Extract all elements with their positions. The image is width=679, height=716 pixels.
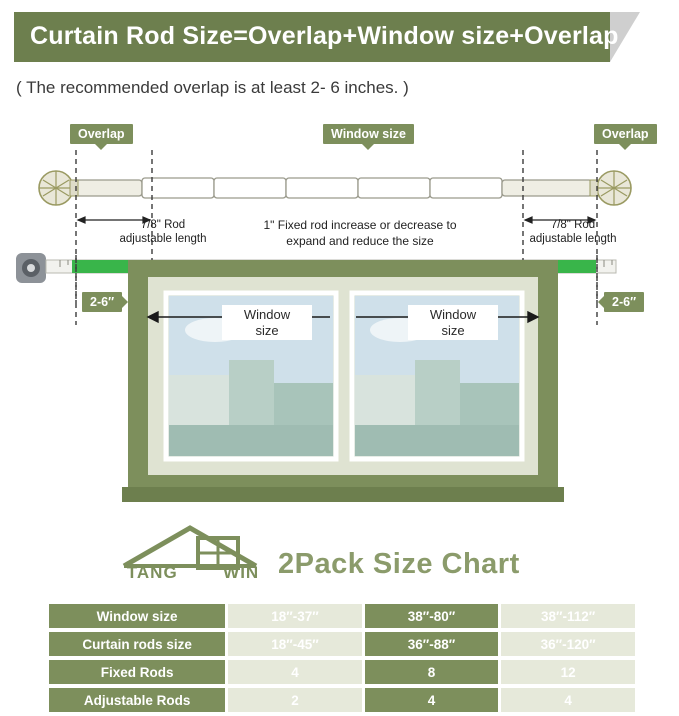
note-center-line2: expand and reduce the size: [286, 234, 433, 248]
row-label-curtain-rods-size: Curtain rods size: [49, 632, 225, 656]
window-size-label-right: Window size: [408, 305, 498, 340]
tag-overlap-left: Overlap: [70, 124, 133, 144]
note-right-adjustable: 7/8" Rod adjustable length: [508, 218, 638, 247]
note-right-line1: 7/8" Rod: [551, 219, 595, 231]
table-row: Curtain rods size 18″-45″ 36″-88″ 36″-12…: [49, 632, 635, 656]
note-center-fixed: 1" Fixed rod increase or decrease to exp…: [250, 218, 470, 249]
window-size-label-left: Window size: [222, 305, 312, 340]
size-chart-title: 2Pack Size Chart: [278, 548, 520, 581]
page-subtitle: ( The recommended overlap is at least 2-…: [16, 78, 409, 98]
brand-left: TANG: [127, 563, 178, 582]
tag-overlap-measure-right: 2-6″: [604, 292, 644, 312]
cell-window-size-3: 38″-112″: [501, 604, 635, 628]
row-label-window-size: Window size: [49, 604, 225, 628]
brand-wordmark: TANG WIN: [118, 563, 268, 583]
brand-right: WIN: [223, 563, 259, 582]
window-size-label-right-line2: size: [441, 323, 464, 338]
tag-window-size: Window size: [323, 124, 414, 144]
cell-window-size-2: 38″-80″: [365, 604, 499, 628]
table-row: Fixed Rods 4 8 12: [49, 660, 635, 684]
tag-overlap-measure-left: 2-6″: [82, 292, 122, 312]
cell-window-size-1: 18″-37″: [228, 604, 362, 628]
cell-curtain-rods-size-2: 36″-88″: [365, 632, 499, 656]
cell-adjustable-rods-1: 2: [228, 688, 362, 712]
row-label-fixed-rods: Fixed Rods: [49, 660, 225, 684]
cell-adjustable-rods-3: 4: [501, 688, 635, 712]
curtain-rod-icon: [39, 171, 631, 205]
cell-curtain-rods-size-3: 36″-120″: [501, 632, 635, 656]
tag-overlap-right: Overlap: [594, 124, 657, 144]
cell-fixed-rods-2: 8: [365, 660, 499, 684]
size-chart-table: Window size 18″-37″ 38″-80″ 38″-112″ Cur…: [46, 600, 638, 716]
infographic-root: Curtain Rod Size=Overlap+Window size+Ove…: [0, 0, 679, 716]
window-size-label-left-line2: size: [255, 323, 278, 338]
cell-fixed-rods-1: 4: [228, 660, 362, 684]
table-row: Window size 18″-37″ 38″-80″ 38″-112″: [49, 604, 635, 628]
page-title: Curtain Rod Size=Overlap+Window size+Ove…: [30, 22, 619, 51]
cell-curtain-rods-size-1: 18″-45″: [228, 632, 362, 656]
row-label-adjustable-rods: Adjustable Rods: [49, 688, 225, 712]
window-size-label-right-line1: Window: [430, 307, 476, 322]
note-center-line1: 1" Fixed rod increase or decrease to: [263, 218, 456, 232]
note-right-line2: adjustable length: [530, 233, 617, 245]
cell-adjustable-rods-2: 4: [365, 688, 499, 712]
note-left-line1: 7/8" Rod: [141, 219, 185, 231]
table-row: Adjustable Rods 2 4 4: [49, 688, 635, 712]
cell-fixed-rods-3: 12: [501, 660, 635, 684]
window-size-label-left-line1: Window: [244, 307, 290, 322]
note-left-adjustable: 7/8" Rod adjustable length: [98, 218, 228, 247]
note-left-line2: adjustable length: [120, 233, 207, 245]
